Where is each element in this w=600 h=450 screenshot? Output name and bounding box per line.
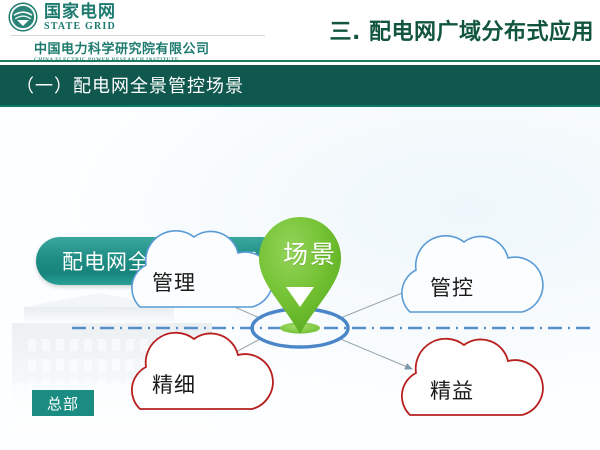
connector-to-jingyi bbox=[338, 338, 412, 369]
state-grid-emblem-icon bbox=[8, 2, 38, 32]
page-title: 三. 配电网广域分布式应用 bbox=[329, 14, 594, 46]
brand-logo-block: 国家电网 STATE GRID 中国电力科学研究院有限公司 CHINA ELEC… bbox=[8, 2, 278, 63]
slide-canvas: 配电网全景管控场景 总部 基层 bbox=[0, 107, 600, 450]
institute-name-cn: 中国电力科学研究院有限公司 bbox=[8, 38, 278, 57]
page-header: 国家电网 STATE GRID 中国电力科学研究院有限公司 CHINA ELEC… bbox=[0, 0, 600, 62]
logo-divider bbox=[10, 35, 265, 36]
brand-name-cn: 国家电网 bbox=[44, 4, 116, 21]
section-heading-bar: （一）配电网全景管控场景 bbox=[0, 65, 600, 105]
header-divider bbox=[0, 60, 600, 62]
scenario-diagram bbox=[0, 107, 600, 450]
cloud-label-jingxi: 精细 bbox=[152, 369, 196, 399]
cloud-label-guanli: 管理 bbox=[152, 267, 196, 297]
center-pin-label: 场景 bbox=[283, 235, 337, 271]
cloud-label-jingyi: 精益 bbox=[430, 375, 474, 405]
section-heading-text: （一）配电网全景管控场景 bbox=[0, 72, 244, 98]
connector-to-guankong bbox=[338, 289, 412, 319]
cloud-label-guankong: 管控 bbox=[430, 272, 474, 302]
brand-name-en: STATE GRID bbox=[44, 22, 116, 32]
